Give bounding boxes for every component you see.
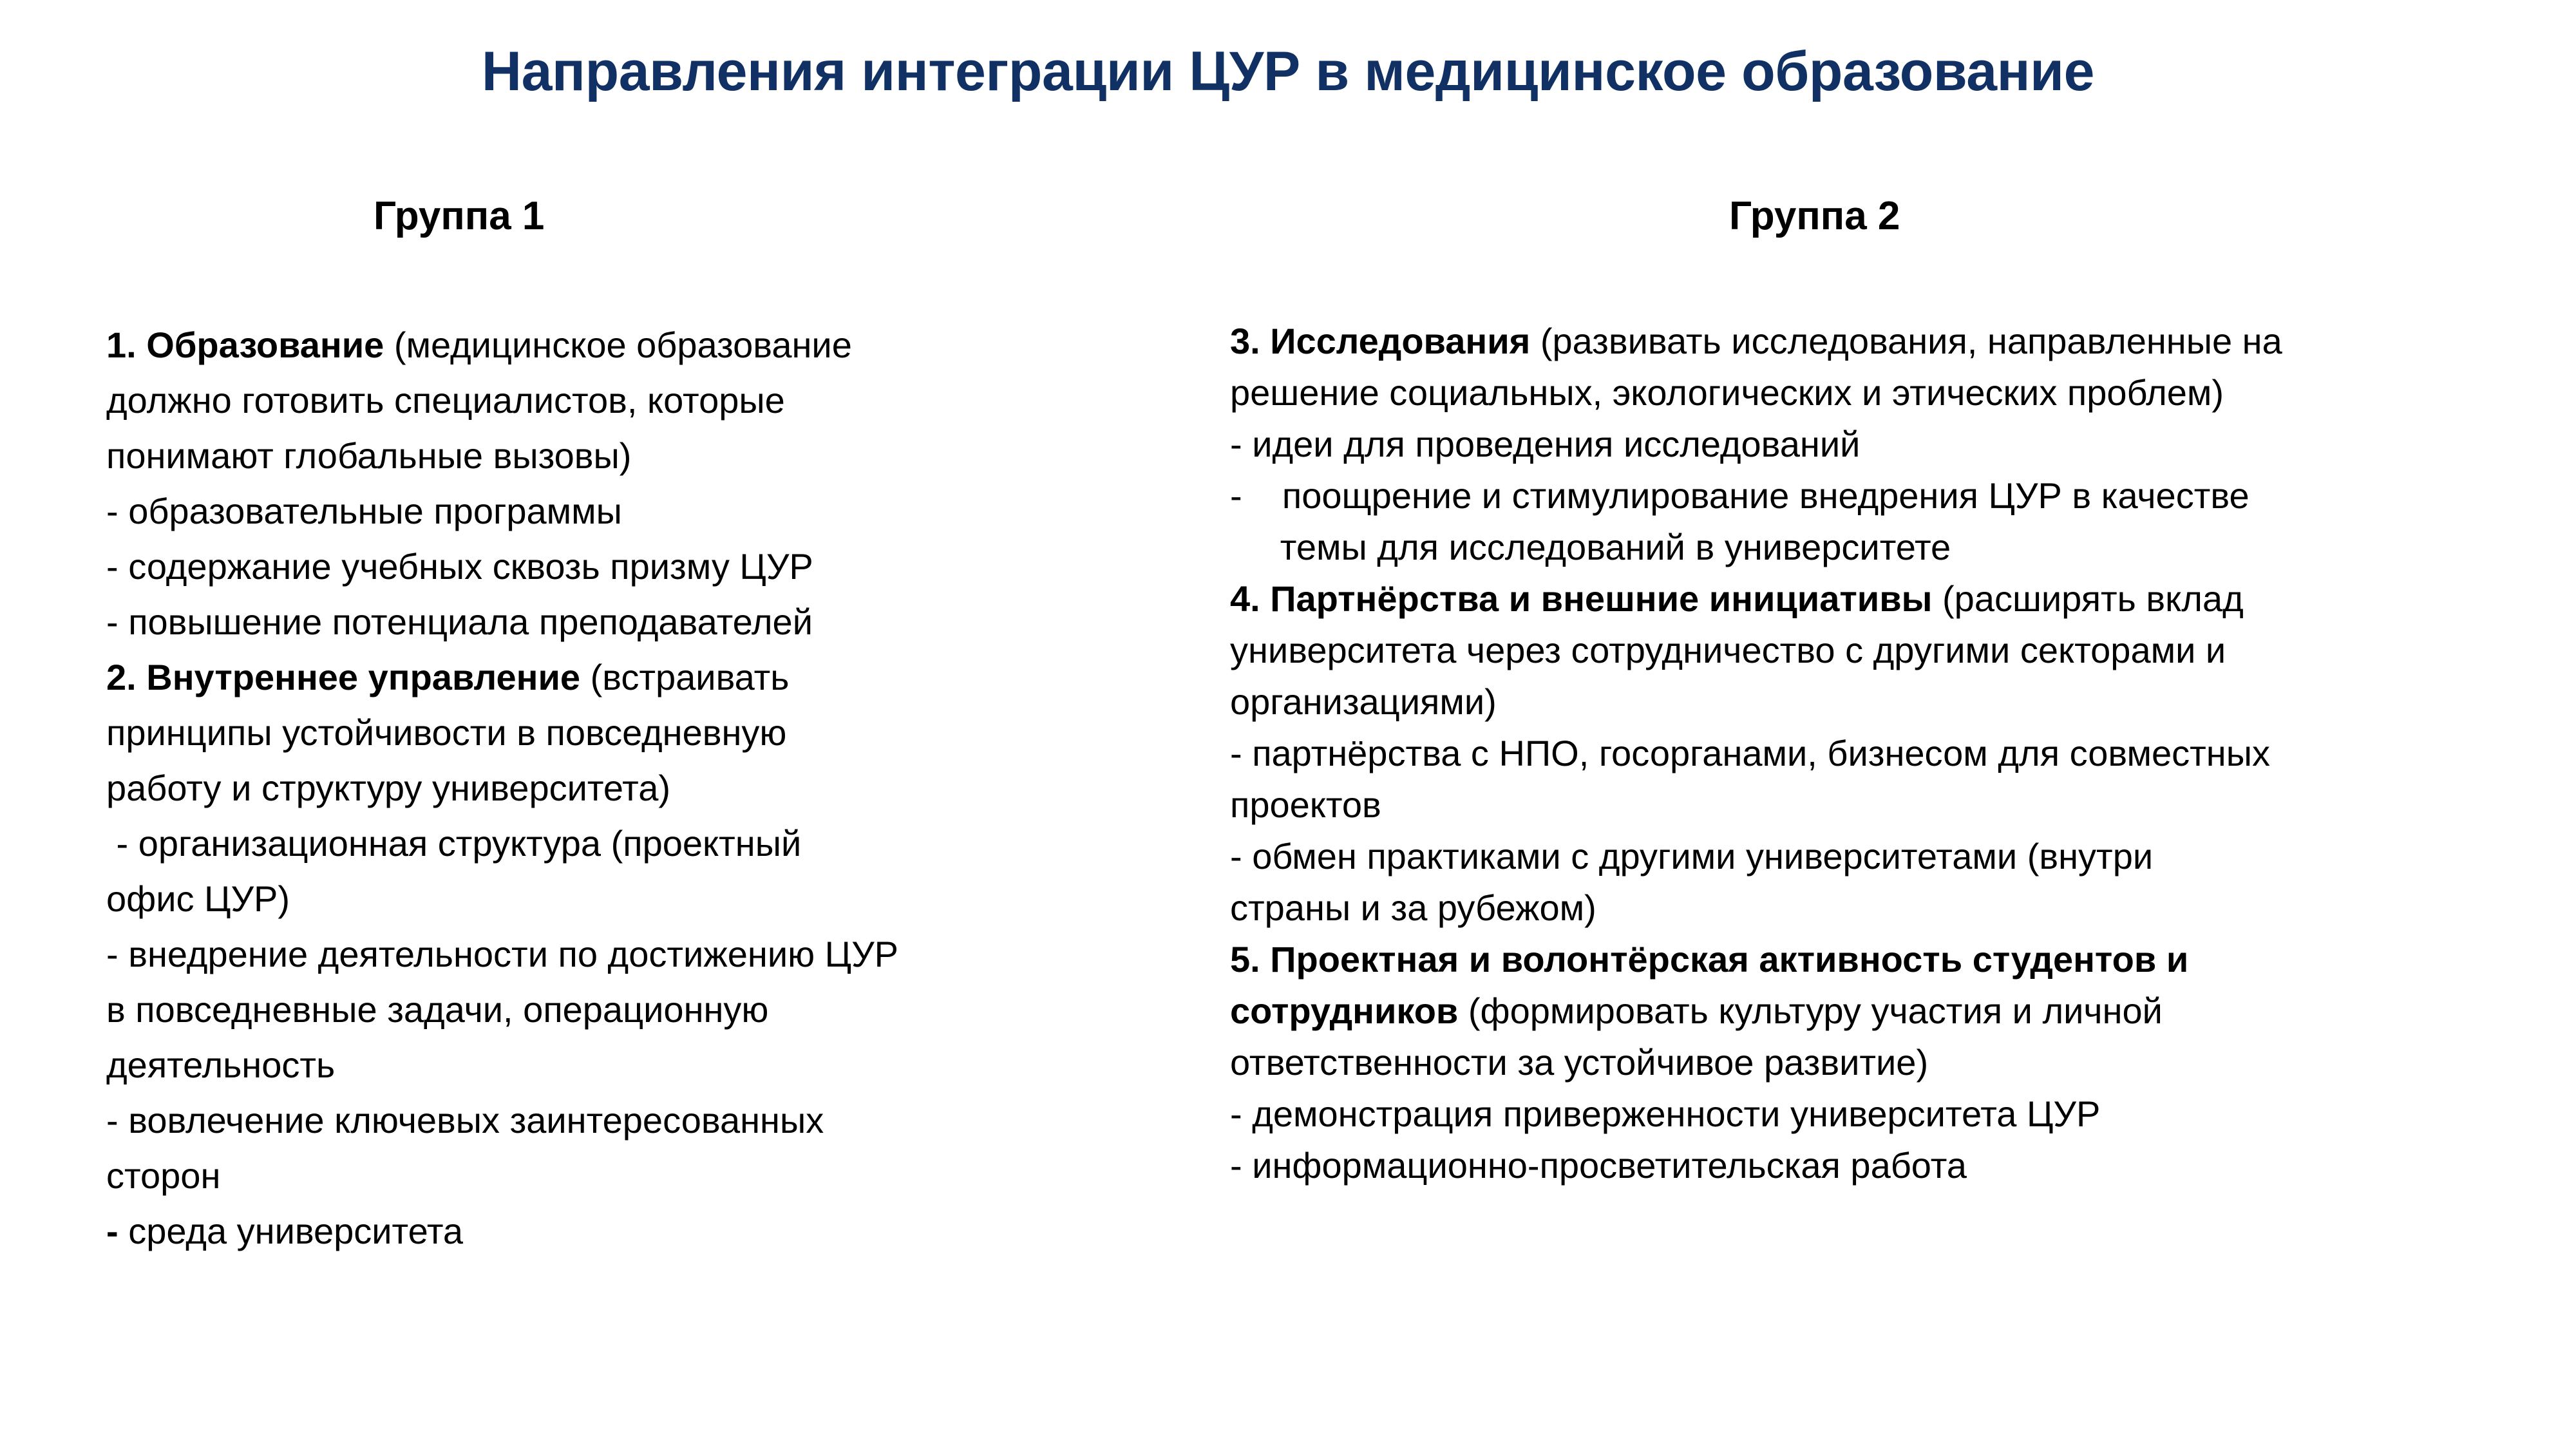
text-line: деятельность — [106, 1037, 1137, 1093]
text-line: ответственности за устойчивое развитие) — [1230, 1037, 2557, 1088]
group-1-heading: Группа 1 — [374, 193, 544, 239]
regular-run: ответственности за устойчивое развитие) — [1230, 1042, 1928, 1083]
text-line: - демонстрация приверженности университе… — [1230, 1088, 2557, 1140]
regular-run: (развивать исследования, направленные на — [1530, 321, 2282, 361]
regular-run: - вовлечение ключевых заинтересованных — [106, 1100, 824, 1141]
text-line: сторон — [106, 1148, 1137, 1204]
text-line: - повышение потенциала преподавателей — [106, 594, 1137, 650]
text-line: понимают глобальные вызовы) — [106, 428, 1137, 484]
regular-run: должно готовить специалистов, которые — [106, 380, 785, 421]
text-line: 4. Партнёрства и внешние инициативы (рас… — [1230, 573, 2557, 625]
text-line: проектов — [1230, 779, 2557, 831]
regular-run: проектов — [1230, 784, 1381, 825]
regular-run: (формировать культуру участия и личной — [1458, 990, 2163, 1031]
regular-run: - образовательные программы — [106, 491, 622, 531]
text-line: сотрудников (формировать культуру участи… — [1230, 985, 2557, 1037]
regular-run: - идеи для проведения исследований — [1230, 424, 1860, 464]
slide-canvas: Направления интеграции ЦУР в медицинское… — [0, 0, 2576, 1449]
regular-run: понимают глобальные вызовы) — [106, 435, 631, 476]
text-line: офис ЦУР) — [106, 871, 1137, 927]
text-line: - информационно-просветительская работа — [1230, 1140, 2557, 1191]
regular-run: - партнёрства с НПО, госорганами, бизнес… — [1230, 733, 2270, 773]
regular-run: - организационная структура (проектный — [106, 823, 801, 864]
regular-run: - информационно-просветительская работа — [1230, 1145, 1967, 1186]
page-title: Направления интеграции ЦУР в медицинское… — [0, 40, 2576, 104]
bold-run: 3. Исследования — [1230, 321, 1530, 361]
bold-run: 2. Внутреннее управление — [106, 657, 580, 697]
text-line: решение социальных, экологических и этич… — [1230, 367, 2557, 419]
text-line: 2. Внутреннее управление (встраивать — [106, 650, 1137, 705]
bold-run: - — [106, 1211, 118, 1251]
text-line: в повседневные задачи, операционную — [106, 982, 1137, 1037]
text-line: - идеи для проведения исследований — [1230, 419, 2557, 470]
text-line: принципы устойчивости в повседневную — [106, 705, 1137, 761]
regular-run: принципы устойчивости в повседневную — [106, 712, 786, 753]
text-line: страны и за рубежом) — [1230, 882, 2557, 934]
regular-run: среда университета — [118, 1211, 463, 1251]
text-line: - содержание учебных сквозь призму ЦУР — [106, 539, 1137, 594]
text-line: - образовательные программы — [106, 484, 1137, 539]
text-line: - внедрение деятельности по достижению Ц… — [106, 927, 1137, 982]
regular-run: (медицинское образование — [384, 325, 852, 365]
regular-run: - внедрение деятельности по достижению Ц… — [106, 934, 898, 974]
text-line: организациями) — [1230, 676, 2557, 728]
regular-run: - обмен практиками с другими университет… — [1230, 836, 2153, 876]
regular-run: - демонстрация приверженности университе… — [1230, 1094, 2100, 1134]
text-line: - партнёрства с НПО, госорганами, бизнес… — [1230, 728, 2557, 779]
text-line: университета через сотрудничество с друг… — [1230, 625, 2557, 676]
regular-run: (встраивать — [580, 657, 789, 697]
text-line: - поощрение и стимулирование внедрения Ц… — [1230, 470, 2557, 522]
text-line: - обмен практиками с другими университет… — [1230, 831, 2557, 882]
regular-run: решение социальных, экологических и этич… — [1230, 372, 2224, 413]
regular-run: университета через сотрудничество с друг… — [1230, 630, 2226, 670]
bold-run: 1. Образование — [106, 325, 384, 365]
text-line: - среда университета — [106, 1204, 1137, 1259]
bold-run: 5. Проектная и волонтёрская активность с… — [1230, 939, 2188, 980]
regular-run: страны и за рубежом) — [1230, 887, 1596, 928]
text-line: работу и структуру университета) — [106, 761, 1137, 816]
text-line: 1. Образование (медицинское образование — [106, 317, 1137, 373]
regular-run: работу и структуру университета) — [106, 768, 670, 808]
regular-run: сторон — [106, 1155, 220, 1196]
text-line: - вовлечение ключевых заинтересованных — [106, 1093, 1137, 1148]
regular-run: - содержание учебных сквозь призму ЦУР — [106, 546, 813, 587]
bold-run: 4. Партнёрства и внешние инициативы — [1230, 578, 1932, 619]
group-1-content: 1. Образование (медицинское образованиед… — [106, 317, 1137, 1259]
regular-run: деятельность — [106, 1045, 335, 1085]
regular-run: темы для исследований в университете — [1230, 527, 1951, 567]
text-line: должно готовить специалистов, которые — [106, 373, 1137, 428]
regular-run: в повседневные задачи, операционную — [106, 989, 768, 1030]
text-line: - организационная структура (проектный — [106, 816, 1137, 871]
group-2-content: 3. Исследования (развивать исследования,… — [1230, 316, 2557, 1191]
text-line: 5. Проектная и волонтёрская активность с… — [1230, 934, 2557, 985]
group-2-heading: Группа 2 — [1729, 193, 1900, 239]
regular-run: - поощрение и стимулирование внедрения Ц… — [1230, 475, 2249, 516]
regular-run: офис ЦУР) — [106, 878, 290, 919]
text-line: 3. Исследования (развивать исследования,… — [1230, 316, 2557, 367]
regular-run: - повышение потенциала преподавателей — [106, 601, 813, 642]
bold-run: сотрудников — [1230, 990, 1458, 1031]
text-line: темы для исследований в университете — [1230, 522, 2557, 573]
regular-run: организациями) — [1230, 681, 1497, 722]
regular-run: (расширять вклад — [1932, 578, 2243, 619]
